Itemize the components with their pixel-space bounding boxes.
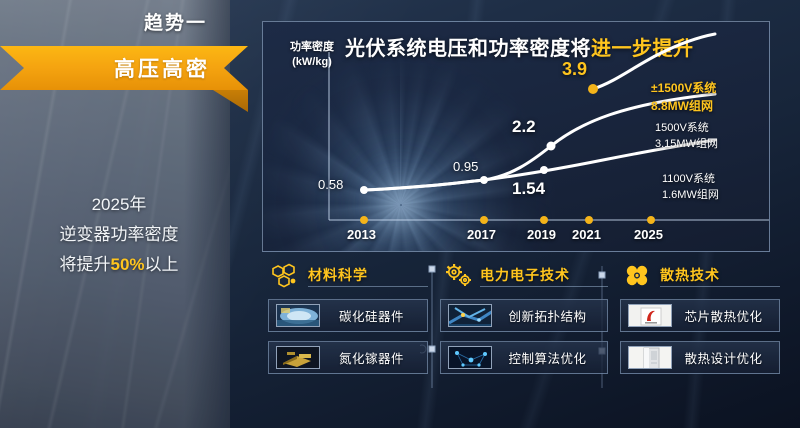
- category-item-label: 芯片散热优化: [672, 306, 779, 325]
- trend-label: 趋势一: [144, 8, 207, 35]
- gears-icon: [442, 263, 476, 289]
- ribbon-label: 高压高密: [0, 46, 248, 90]
- data-point-2023-highlight: [588, 84, 598, 94]
- series-label-1500v: 1500V系统 3.15MW组网: [655, 120, 718, 152]
- category-item-label: 散热设计优化: [672, 348, 779, 367]
- x-tick-2013: 2013: [347, 227, 376, 242]
- x-tick-2025: 2025: [634, 227, 663, 242]
- category-title-material-science: 材料科学: [308, 265, 368, 285]
- data-point-2019: [540, 166, 548, 174]
- category-header-material-science: 材料科学: [268, 262, 428, 290]
- value-label-3-9: 3.9: [562, 59, 587, 80]
- x-tick-2021: 2021: [572, 227, 601, 242]
- category-rule-material-science: [308, 286, 428, 287]
- axis-dot-2021: [585, 216, 593, 224]
- category-item[interactable]: 氮化镓器件: [268, 341, 428, 374]
- category-item-label: 氮化镓器件: [320, 348, 427, 367]
- algorithm-network-thumb: [448, 346, 492, 369]
- series-label-pm1500v-line2: 8.8MW组网: [651, 97, 716, 115]
- caption-line-3: 将提升50%以上: [8, 250, 230, 280]
- data-point-2013: [360, 186, 368, 194]
- axis-dot-2013: [360, 216, 368, 224]
- axis-dot-2019: [540, 216, 548, 224]
- caption-highlight-percent: 50%: [110, 255, 144, 274]
- category-item-label: 控制算法优化: [492, 348, 607, 367]
- series-label-1100v-line1: 1100V系统: [662, 171, 719, 187]
- value-label-0-58: 0.58: [318, 177, 343, 192]
- heatsink-cabinet-thumb: [628, 346, 672, 369]
- axis-dot-2017: [480, 216, 488, 224]
- series-label-pm1500v: ±1500V系统 8.8MW组网: [651, 79, 716, 115]
- caption-line-3-suffix: 以上: [145, 255, 179, 274]
- category-header-power-electronics: 电力电子技术: [440, 262, 608, 290]
- caption-line-2: 逆变器功率密度: [8, 220, 230, 250]
- category-card-power-electronics: 电力电子技术 创新拓扑结构: [440, 262, 608, 374]
- series-label-1500v-line1: 1500V系统: [655, 120, 718, 136]
- category-item[interactable]: 散热设计优化: [620, 341, 780, 374]
- silicon-carbide-wafer-thumb: [276, 304, 320, 327]
- category-item[interactable]: 创新拓扑结构: [440, 299, 608, 332]
- x-tick-2017: 2017: [467, 227, 496, 242]
- series-label-1100v: 1100V系统 1.6MW组网: [662, 171, 719, 203]
- category-card-thermal: 散热技术 芯片散热优化: [620, 262, 780, 374]
- chart-panel: 光伏系统电压和功率密度将进一步提升 功率密度 (kW/kg): [262, 21, 770, 252]
- series-label-1500v-line2: 3.15MW组网: [655, 136, 718, 152]
- category-header-thermal: 散热技术: [620, 262, 780, 290]
- category-item-label: 创新拓扑结构: [492, 306, 607, 325]
- chip-thumb: [628, 304, 672, 327]
- category-card-material-science: 材料科学 碳化硅器件: [268, 262, 428, 374]
- data-point-2021: [547, 142, 556, 151]
- value-label-0-95: 0.95: [453, 159, 478, 174]
- axis-dot-2025: [647, 216, 655, 224]
- caption-line-1: 2025年: [8, 190, 230, 220]
- fan-icon: [622, 263, 656, 289]
- hexagon-cluster-icon: [270, 263, 304, 289]
- category-rule-power-electronics: [480, 286, 608, 287]
- circuit-topology-thumb: [448, 304, 492, 327]
- left-caption: 2025年 逆变器功率密度 将提升50%以上: [8, 190, 230, 280]
- series-label-1100v-line2: 1.6MW组网: [662, 187, 719, 203]
- category-item[interactable]: 芯片散热优化: [620, 299, 780, 332]
- category-title-thermal: 散热技术: [660, 265, 720, 285]
- category-item-label: 碳化硅器件: [320, 306, 427, 325]
- x-tick-2019: 2019: [527, 227, 556, 242]
- series-label-pm1500v-line1: ±1500V系统: [651, 79, 716, 97]
- category-item[interactable]: 控制算法优化: [440, 341, 608, 374]
- gallium-nitride-chip-thumb: [276, 346, 320, 369]
- category-title-power-electronics: 电力电子技术: [480, 265, 570, 285]
- category-item[interactable]: 碳化硅器件: [268, 299, 428, 332]
- caption-line-3-prefix: 将提升: [59, 255, 110, 274]
- data-point-2017: [480, 176, 488, 184]
- slide-root: 趋势一 高压高密 2025年 逆变器功率密度 将提升50%以上 光伏系统电压和功…: [0, 0, 800, 428]
- value-label-2-2: 2.2: [512, 117, 536, 137]
- value-label-1-54: 1.54: [512, 179, 545, 199]
- category-rule-thermal: [660, 286, 780, 287]
- section-ribbon: 高压高密: [0, 46, 248, 90]
